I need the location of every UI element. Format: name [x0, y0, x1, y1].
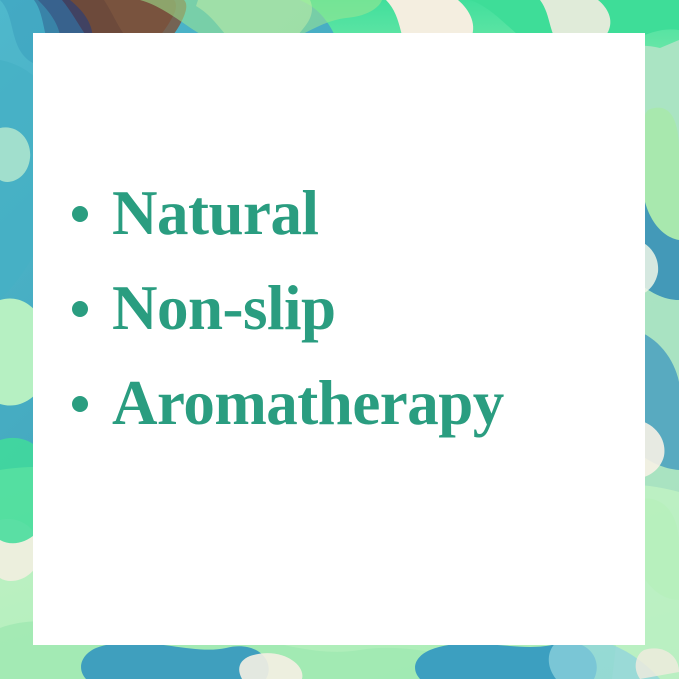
feature-label: Natural [112, 182, 318, 245]
feature-list: Natural Non-slip Aromatherapy [72, 166, 612, 451]
feature-label: Non-slip [112, 277, 336, 340]
list-item: Non-slip [72, 261, 612, 356]
product-feature-graphic: Natural Non-slip Aromatherapy [0, 0, 679, 679]
bullet-dot-icon [72, 396, 88, 412]
list-item: Natural [72, 166, 612, 261]
bullet-dot-icon [72, 206, 88, 222]
bullet-dot-icon [72, 301, 88, 317]
list-item: Aromatherapy [72, 356, 612, 451]
feature-label: Aromatherapy [112, 372, 504, 435]
